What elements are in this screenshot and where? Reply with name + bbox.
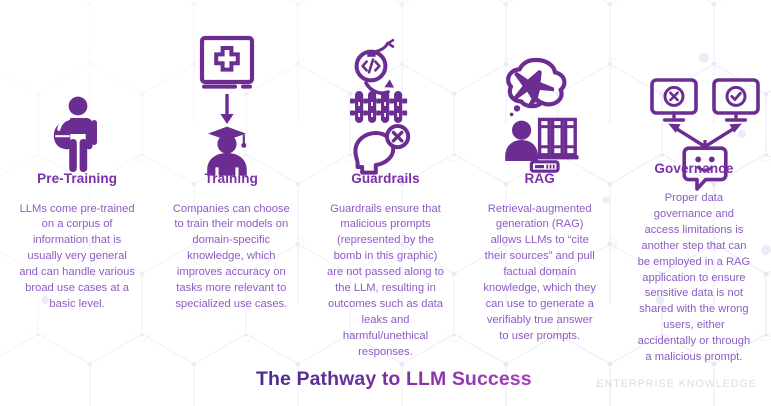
heading-guardrails: Guardrails: [351, 172, 420, 186]
icon-slot-guardrails: [308, 0, 462, 172]
column-pre-training: Pre-Training LLMs come pre-trained on a …: [0, 0, 154, 366]
pathway-columns: Pre-Training LLMs come pre-trained on a …: [0, 0, 771, 366]
column-training: Training Companies can choose to train t…: [154, 0, 308, 366]
brand-watermark: ENTERPRISE KNOWLEDGE: [596, 378, 757, 390]
icon-slot-governance: [617, 0, 771, 162]
body-rag: Retrieval-augmented generation (RAG) all…: [481, 202, 599, 345]
footer: The Pathway to LLM Success ENTERPRISE KN…: [0, 362, 771, 406]
body-guardrails: Guardrails ensure that malicious prompts…: [327, 202, 445, 361]
icon-slot-rag: [463, 0, 617, 172]
body-training: Companies can choose to train their mode…: [172, 202, 290, 313]
icon-slot-training: [154, 0, 308, 172]
column-rag: RAG Retrieval-augmented generation (RAG)…: [463, 0, 617, 366]
column-guardrails: Guardrails Guardrails ensure that malici…: [308, 0, 462, 366]
heading-training: Training: [205, 172, 258, 186]
column-governance: Governance Proper data governance and ac…: [617, 0, 771, 366]
heading-rag: RAG: [525, 172, 555, 186]
page-title: The Pathway to LLM Success: [256, 368, 532, 391]
heading-governance: Governance: [654, 162, 733, 176]
icon-slot-pre-training: [0, 0, 154, 172]
heading-pre-training: Pre-Training: [37, 172, 117, 186]
body-governance: Proper data governance and access limita…: [635, 191, 753, 366]
body-pre-training: LLMs come pre-trained on a corpus of inf…: [18, 202, 136, 313]
